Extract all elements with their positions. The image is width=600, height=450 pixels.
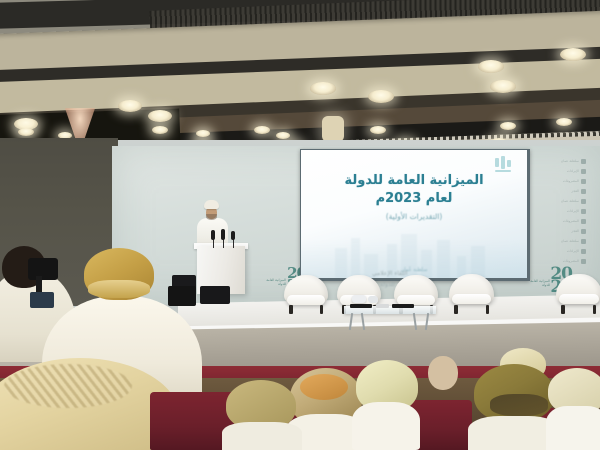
massar-fold	[490, 394, 548, 416]
ceiling	[0, 0, 600, 152]
ceiling-downlight	[560, 48, 586, 61]
speaker-beard	[206, 214, 217, 220]
backdrop-icon-row-label: العجز	[571, 229, 579, 233]
backdrop-icon-row: سلطنة عمان	[524, 156, 586, 166]
ceiling-downlight	[370, 126, 386, 134]
table-microphone	[392, 304, 414, 308]
tub-chair	[284, 275, 328, 313]
backdrop-icon-row-label: الإيرادات	[567, 169, 579, 173]
attendee-shoulders	[222, 422, 302, 450]
ceiling-downlight	[310, 82, 336, 95]
tub-chair	[449, 274, 494, 313]
backdrop-icon-row-label: العجز	[571, 189, 579, 193]
podium-microphone	[231, 231, 235, 240]
speaker-kummah-icon	[204, 200, 219, 209]
backdrop-icon-row: المصروفات	[524, 176, 586, 186]
ceiling-downlight	[478, 60, 504, 73]
backdrop-icon-list-right: سلطنة عمانالإيراداتالمصروفاتالعجزسلطنة ع…	[524, 156, 586, 266]
slide-title-line-1: الميزانية العامة للدولة	[301, 172, 527, 190]
ceiling-downlight	[556, 118, 572, 126]
chart-icon	[581, 209, 586, 214]
wall-text-line-b: للدولة	[380, 281, 395, 288]
video-camera	[168, 286, 196, 306]
attendee-back-row	[420, 352, 466, 392]
attendee-head	[428, 356, 458, 390]
attendee-shoulders	[352, 402, 420, 450]
khanjar-icon	[581, 199, 586, 204]
backdrop-icon-row-label: المصروفات	[563, 259, 579, 263]
backdrop-icon-row-label: المصروفات	[563, 179, 579, 183]
backdrop-icon-row-label: المصروفات	[563, 219, 579, 223]
khanjar-icon	[581, 159, 586, 164]
backdrop-icon-row-label: سلطنة عمان	[561, 159, 579, 163]
massar-pattern	[300, 374, 348, 400]
table-name-plate	[376, 304, 389, 308]
ceiling-downlight	[196, 130, 210, 137]
coin-icon	[581, 179, 586, 184]
attendee-front-4	[548, 368, 600, 450]
projection-screen: الميزانية العامة للدولة لعام 2023م (التق…	[301, 150, 527, 278]
attendee-front-2	[352, 360, 420, 450]
podium-microphone	[211, 230, 215, 240]
ceiling-downlight	[490, 80, 516, 93]
backdrop-icon-row: سلطنة عمان	[524, 236, 586, 246]
ceiling-light-box	[322, 116, 344, 142]
backdrop-icon-row-label: سلطنة عمان	[561, 199, 579, 203]
ceiling-downlight	[152, 126, 168, 134]
backdrop-icon-row-label: سلطنة عمان	[561, 239, 579, 243]
ceiling-downlight	[148, 110, 172, 122]
ceiling-downlight	[18, 128, 34, 136]
ceiling-downlight	[118, 100, 142, 112]
chart-icon	[581, 249, 586, 254]
khanjar-icon	[581, 239, 586, 244]
bar-icon	[581, 189, 586, 194]
stage-equipment-case	[200, 286, 230, 304]
backdrop-icon-row: العجز	[524, 186, 586, 196]
backdrop-icon-row: سلطنة عمان	[524, 196, 586, 206]
ceiling-downlight	[368, 90, 394, 103]
ceiling-downlight	[254, 126, 270, 134]
mini-logo-caption: الميزانية العامة للدولة	[264, 278, 286, 286]
podium-microphone	[221, 229, 225, 240]
slide-title: الميزانية العامة للدولة لعام 2023م	[301, 172, 527, 208]
coin-icon	[581, 259, 586, 264]
table-top-item	[368, 296, 378, 303]
shawl-embroidery	[4, 364, 132, 408]
slide-subtitle: (التقديرات الأولية)	[301, 212, 527, 221]
chart-icon	[581, 169, 586, 174]
glass-coffee-table	[344, 306, 436, 314]
slide-footer: سلطنة عُمان	[301, 267, 527, 273]
backdrop-icon-row: العجز	[524, 226, 586, 236]
backdrop-icon-row: الإيرادات	[524, 166, 586, 176]
backdrop-icon-row-label: الإيرادات	[567, 209, 579, 213]
table-microphone	[350, 304, 372, 308]
coin-icon	[581, 219, 586, 224]
backdrop-icon-row: الإيرادات	[524, 206, 586, 216]
ceiling-downlight	[276, 132, 290, 139]
attendee-massar-fold	[88, 280, 150, 298]
mini-logo-caption: الميزانية العامة للدولة	[528, 279, 550, 287]
attendee-front-5	[226, 380, 302, 450]
backdrop-icon-row: الإيرادات	[524, 246, 586, 256]
ceiling-downlight	[500, 122, 516, 130]
bar-icon	[581, 229, 586, 234]
slide-title-line-2: لعام 2023م	[301, 190, 527, 208]
table-top-item	[352, 295, 366, 303]
backdrop-icon-row: المصروفات	[524, 216, 586, 226]
conference-photo-scene: الميزانية العامة للدولة 20 23 الإعلان ال…	[0, 0, 600, 450]
backdrop-icon-row-label: الإيرادات	[567, 249, 579, 253]
projection-screen-frame: الميزانية العامة للدولة لعام 2023م (التق…	[300, 149, 530, 281]
tub-chair	[556, 274, 600, 313]
attendee-shoulders	[546, 406, 600, 450]
